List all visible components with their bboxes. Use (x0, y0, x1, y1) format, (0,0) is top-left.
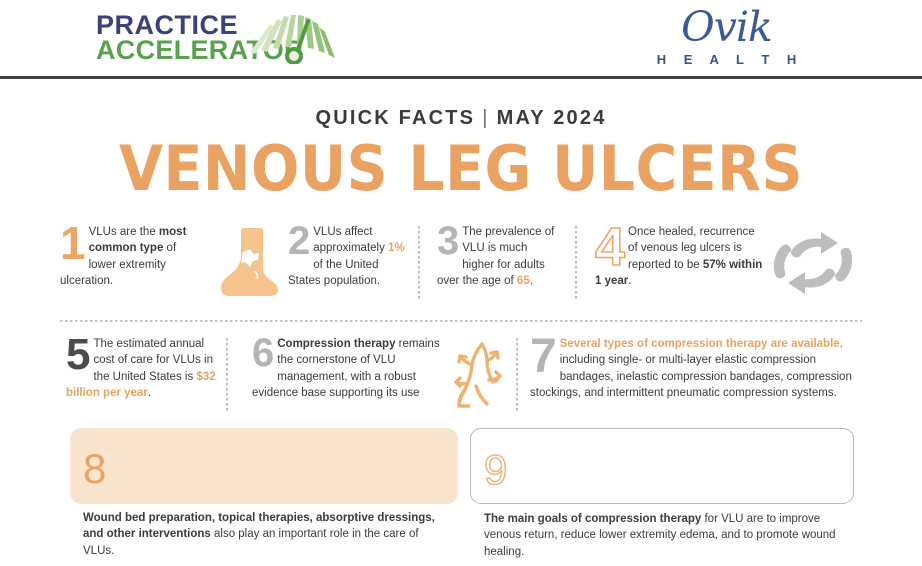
fact-text-9: The main goals of compression therapy fo… (484, 511, 839, 560)
fact-item-4: 4 Once healed, recurrence of venous leg … (595, 224, 767, 289)
horizontal-divider (60, 320, 862, 322)
varicose-vein-icon (452, 340, 508, 410)
fact-item-7: 7 Several types of compression therapy a… (530, 336, 855, 401)
fact-number-1: 1 (60, 224, 86, 264)
facts-row-3: 8 Wound bed preparation, topical therapi… (0, 428, 922, 504)
page-header: PRACTICE ACCELERATOR Ovik H E A L T H (0, 0, 922, 78)
practice-accelerator-logo: PRACTICE ACCELERATOR (96, 8, 366, 68)
fact-box-8: 8 Wound bed preparation, topical therapi… (70, 428, 458, 504)
fact-item-6: 6 Compression therapy remains the corner… (252, 336, 457, 401)
gauge-fan-icon (248, 6, 342, 64)
fact-number-2: 2 (288, 224, 310, 258)
ovik-health-logo: Ovik H E A L T H (639, 6, 814, 67)
fact-divider-vertical-3 (226, 338, 228, 412)
facts-row-1: 1 VLUs are the most common type of lower… (0, 222, 922, 310)
fact-number-7: 7 (530, 336, 557, 377)
fact-divider-vertical-1 (418, 226, 420, 300)
page-title: VENOUS LEG ULCERS (0, 138, 922, 200)
ovik-subtitle: H E A L T H (639, 52, 814, 67)
fact-item-2: 2 VLUs affect approximately 1% of the Un… (288, 224, 406, 289)
quick-facts-label: QUICK FACTS (315, 107, 475, 129)
fact-box-9: 9 The main goals of compression therapy … (470, 428, 854, 504)
fact-number-4: 4 (595, 224, 625, 270)
recurrence-loop-icon (770, 230, 856, 296)
fact-number-5: 5 (66, 336, 90, 374)
quick-facts-separator: | (475, 107, 496, 129)
facts-row-2: 5 The estimated annual cost of care for … (0, 334, 922, 414)
fact-text-7: Several types of compression therapy are… (530, 336, 855, 401)
foot-ulcer-icon (218, 226, 280, 298)
fact-item-1: 1 VLUs are the most common type of lower… (60, 224, 200, 289)
ovik-wordmark: Ovik (639, 6, 814, 49)
quick-facts-date: MAY 2024 (497, 107, 607, 129)
fact-number-3: 3 (437, 224, 459, 258)
fact-text-8: Wound bed preparation, topical therapies… (83, 510, 444, 559)
fact-divider-vertical-4 (516, 338, 518, 412)
quick-facts-line: QUICK FACTS|MAY 2024 (0, 107, 922, 130)
fact-item-3: 3 The prevalence of VLU is much higher f… (437, 224, 562, 289)
fact-text-6: Compression therapy remains the cornerst… (252, 336, 457, 401)
header-divider (0, 76, 922, 79)
fact-number-8: 8 (83, 445, 106, 492)
fact-item-5: 5 The estimated annual cost of care for … (66, 336, 218, 401)
fact-number-6: 6 (252, 336, 274, 370)
fact-number-9: 9 (484, 446, 507, 493)
fact-divider-vertical-2 (575, 226, 577, 300)
